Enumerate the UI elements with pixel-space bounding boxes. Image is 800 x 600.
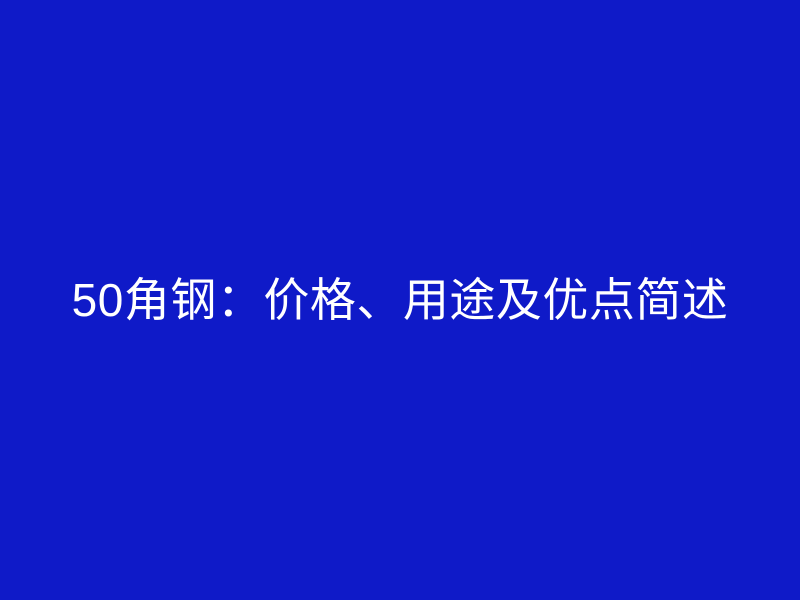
banner-title: 50角钢：价格、用途及优点简述 [72,277,729,323]
banner-canvas: 50角钢：价格、用途及优点简述 [0,0,800,600]
title-block: 50角钢：价格、用途及优点简述 [0,0,800,600]
